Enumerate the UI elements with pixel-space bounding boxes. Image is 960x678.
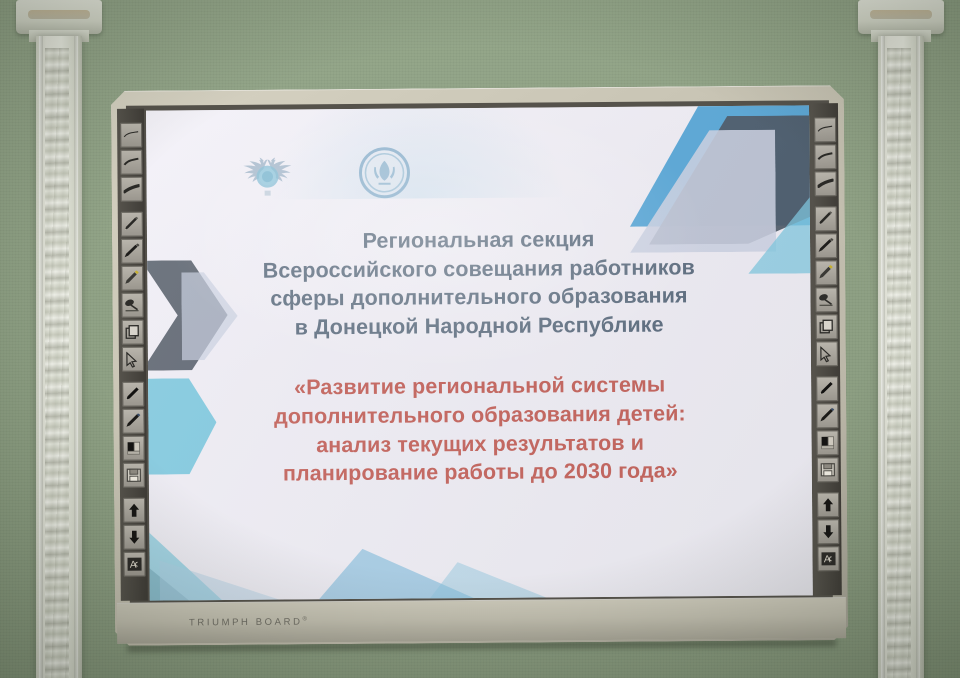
toolbar-color-swatch-icon[interactable] bbox=[122, 436, 144, 461]
toolbar-pen-icon[interactable] bbox=[814, 233, 836, 258]
toolbar-pen-blue-icon[interactable] bbox=[816, 403, 838, 428]
pilaster-capital-right bbox=[858, 0, 944, 34]
slide-text-block: Региональная секция Всероссийского совещ… bbox=[147, 223, 812, 489]
toolbar-medium-line-icon[interactable] bbox=[814, 144, 836, 169]
ministry-seal-icon bbox=[358, 147, 410, 204]
toolbar-eraser-icon[interactable] bbox=[815, 287, 837, 312]
toolbar-eraser-icon[interactable] bbox=[121, 293, 143, 318]
emblem-row bbox=[234, 147, 410, 205]
toolbar-keyboard-icon[interactable]: A bbox=[123, 552, 145, 577]
slide-title: Региональная секция Всероссийского совещ… bbox=[147, 223, 811, 343]
pilaster-capital-left bbox=[16, 0, 102, 34]
toolbar-arrow-up-icon[interactable] bbox=[123, 498, 145, 523]
screenshot-scene: Региональная секция Всероссийского совещ… bbox=[0, 0, 960, 678]
toolbar-arrow-down-icon[interactable] bbox=[123, 525, 145, 550]
toolbar-cursor-icon[interactable] bbox=[121, 347, 143, 372]
pilaster-edge bbox=[39, 36, 43, 678]
pilaster-right bbox=[878, 36, 924, 678]
board-brand-mark: ® bbox=[302, 616, 309, 622]
toolbar-thin-line-icon[interactable] bbox=[814, 117, 836, 142]
slide-subtitle-line: планирование работы до 2030 года» bbox=[149, 456, 812, 490]
toolbar-pencil-icon[interactable] bbox=[814, 206, 836, 231]
interactive-whiteboard[interactable]: Региональная секция Всероссийского совещ… bbox=[111, 85, 848, 646]
toolbar-keyboard-icon[interactable]: A bbox=[817, 546, 839, 571]
pilaster-relief-ornament bbox=[45, 48, 69, 678]
slide-subtitle: «Развитие региональной системы дополните… bbox=[148, 370, 812, 490]
toolbar-copy-icon[interactable] bbox=[815, 314, 837, 339]
toolbar-cursor-icon[interactable] bbox=[815, 341, 837, 366]
toolbar-highlighter-icon[interactable] bbox=[121, 266, 143, 291]
toolbar-thick-line-icon[interactable] bbox=[120, 177, 142, 202]
pilaster-relief-ornament bbox=[887, 48, 911, 678]
left-toolbar[interactable]: A bbox=[117, 109, 148, 601]
toolbar-copy-icon[interactable] bbox=[121, 320, 143, 345]
toolbar-thin-line-icon[interactable] bbox=[120, 123, 142, 148]
pilaster-edge bbox=[881, 36, 885, 678]
dnr-coat-of-arms-icon bbox=[234, 150, 300, 202]
pilaster-edge bbox=[74, 36, 78, 678]
right-toolbar[interactable]: A bbox=[811, 103, 842, 595]
board-brand-text: TRIUMPH BOARD bbox=[189, 617, 303, 629]
projection-screen[interactable]: Региональная секция Всероссийского совещ… bbox=[146, 105, 813, 600]
toolbar-medium-line-icon[interactable] bbox=[120, 150, 142, 175]
toolbar-save-icon[interactable] bbox=[122, 463, 144, 488]
slide-title-line: в Донецкой Народной Республике bbox=[148, 309, 811, 343]
pilaster-left bbox=[36, 36, 82, 678]
pilaster-edge bbox=[916, 36, 920, 678]
toolbar-pen-black-icon[interactable] bbox=[816, 376, 838, 401]
board-brand-label: TRIUMPH BOARD® bbox=[189, 616, 310, 628]
toolbar-pen-blue-icon[interactable] bbox=[122, 409, 144, 434]
toolbar-arrow-up-icon[interactable] bbox=[817, 492, 839, 517]
toolbar-save-icon[interactable] bbox=[816, 457, 838, 482]
toolbar-pencil-icon[interactable] bbox=[120, 212, 142, 237]
toolbar-thick-line-icon[interactable] bbox=[814, 171, 836, 196]
board-tray: TRIUMPH BOARD® bbox=[117, 597, 846, 644]
toolbar-color-swatch-icon[interactable] bbox=[816, 430, 838, 455]
toolbar-highlighter-icon[interactable] bbox=[815, 260, 837, 285]
toolbar-pen-icon[interactable] bbox=[120, 239, 142, 264]
toolbar-pen-black-icon[interactable] bbox=[122, 382, 144, 407]
toolbar-arrow-down-icon[interactable] bbox=[817, 519, 839, 544]
